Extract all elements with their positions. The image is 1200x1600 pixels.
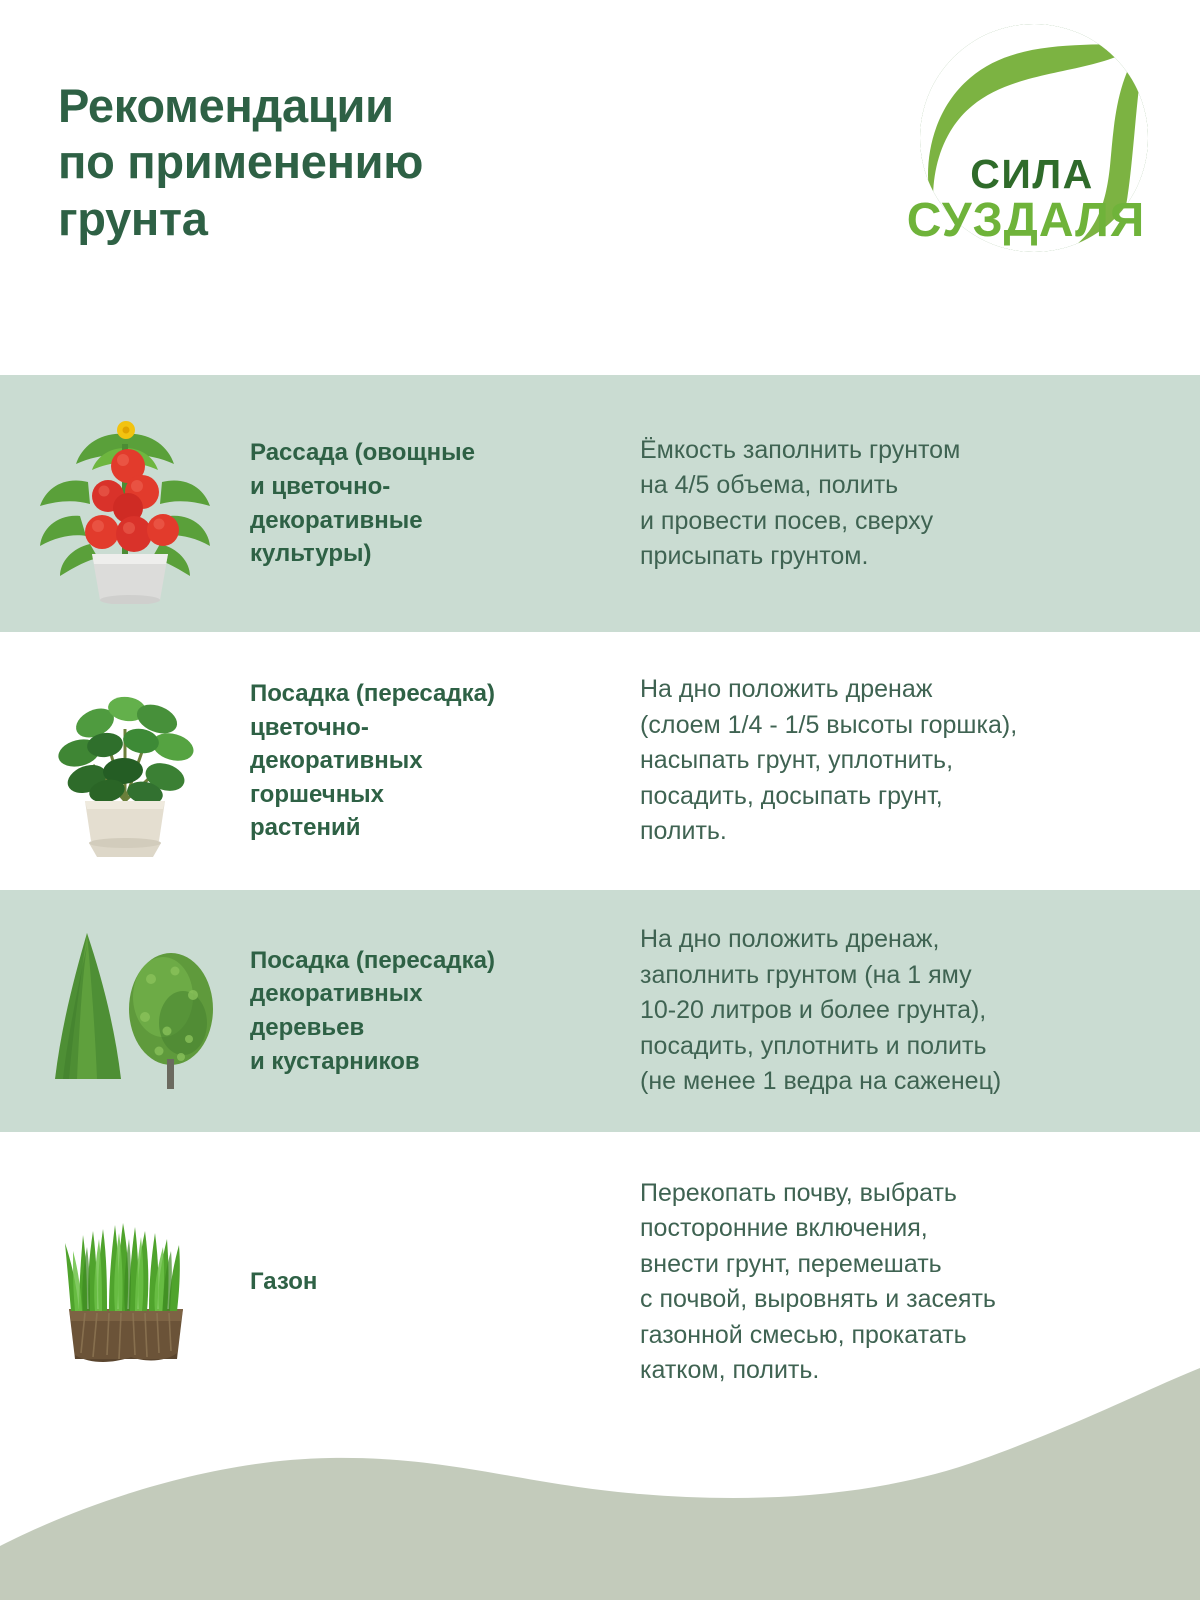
row-title: Газон (250, 1265, 640, 1299)
row-image-cell (0, 1132, 250, 1432)
row-description: На дно положить дренаж, заполнить грунто… (640, 922, 1200, 1100)
row-title: Посадка (пересадка) цветочно- декоративн… (250, 677, 640, 845)
infographic-page: Рекомендации по применению грунта (0, 0, 1200, 1600)
row-image-cell (0, 632, 250, 890)
shrub-tree-shape (129, 953, 213, 1089)
row-description: Ёмкость заполнить грунтом на 4/5 объема,… (640, 433, 1200, 575)
brand-logo: СИЛА СУЗДАЛЯ (900, 20, 1168, 282)
table-row: Посадка (пересадка) декоративных деревье… (0, 890, 1200, 1132)
page-header: Рекомендации по применению грунта (0, 0, 1200, 375)
logo-text-line2: СУЗДАЛЯ (907, 194, 1146, 247)
potted-houseplant-image (35, 661, 215, 861)
table-row: Посадка (пересадка) цветочно- декоративн… (0, 632, 1200, 890)
row-image-cell (0, 890, 250, 1132)
row-image-cell (0, 375, 250, 632)
conifer-shape (55, 933, 121, 1079)
table-row: Рассада (овощные и цветочно- декоративны… (0, 375, 1200, 632)
page-title: Рекомендации по применению грунта (58, 78, 698, 247)
row-title: Посадка (пересадка) декоративных деревье… (250, 944, 640, 1078)
row-description: На дно положить дренаж (слоем 1/4 - 1/5 … (640, 672, 1200, 850)
tomato-seedling-in-pot-image (30, 404, 220, 604)
ornamental-trees-and-shrubs-image (25, 921, 225, 1101)
table-row: Газон Перекопать почву, выбрать посторон… (0, 1132, 1200, 1432)
recommendations-table: Рассада (овощные и цветочно- декоративны… (0, 375, 1200, 1432)
row-title: Рассада (овощные и цветочно- декоративны… (250, 436, 640, 570)
row-description: Перекопать почву, выбрать посторонние вк… (640, 1176, 1200, 1389)
lawn-grass-turf-image (35, 1187, 215, 1377)
logo-text-line1: СИЛА (970, 151, 1093, 197)
